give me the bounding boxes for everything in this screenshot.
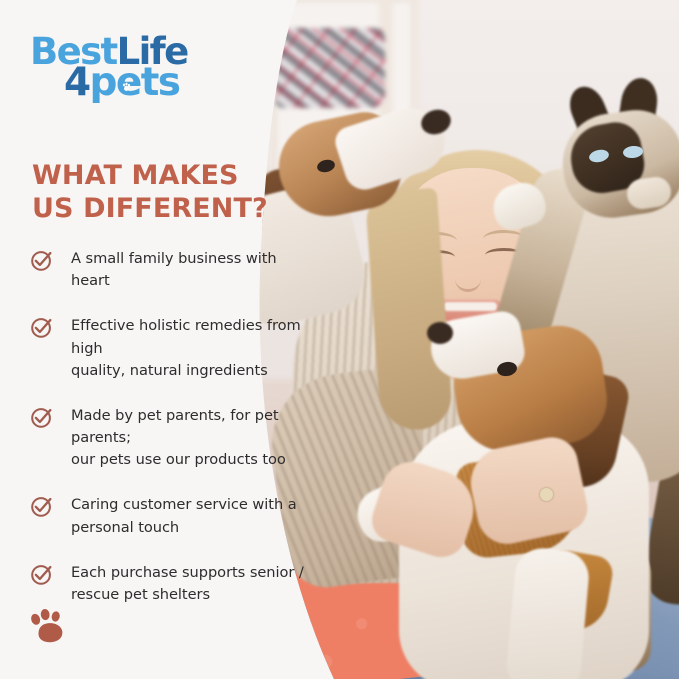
dog-front-nose bbox=[427, 322, 453, 344]
check-circle-icon bbox=[30, 495, 53, 518]
page-title: WHAT MAKES US DIFFERENT? bbox=[32, 160, 268, 226]
list-item: Each purchase supports senior / rescue p… bbox=[30, 562, 340, 606]
woman-teeth bbox=[443, 302, 497, 311]
dog-front-leg bbox=[505, 546, 591, 679]
check-circle-icon bbox=[30, 406, 53, 429]
logo-text-four: 4 bbox=[64, 60, 90, 105]
benefits-list: A small family business with heart Effec… bbox=[30, 248, 340, 629]
content-panel: BestLife 4pets WHAT MAKES US DIFFERENT? bbox=[0, 0, 340, 679]
benefit-text: Each purchase supports senior / rescue p… bbox=[71, 562, 304, 606]
benefit-text: A small family business with heart bbox=[71, 248, 316, 292]
logo-paw-print-icon bbox=[121, 82, 132, 92]
check-circle-icon bbox=[30, 316, 53, 339]
check-circle-icon bbox=[30, 249, 53, 272]
footer-paw-print-icon bbox=[28, 605, 70, 647]
list-item: Made by pet parents, for pet parents; ou… bbox=[30, 405, 340, 472]
list-item: Caring customer service with a personal … bbox=[30, 494, 340, 538]
logo-text-pets: pets bbox=[90, 60, 180, 105]
brand-logo[interactable]: BestLife 4pets bbox=[30, 36, 188, 99]
woman-nose bbox=[455, 262, 481, 292]
list-item: Effective holistic remedies from high qu… bbox=[30, 315, 340, 382]
woman-ring bbox=[540, 488, 553, 501]
benefit-text: Caring customer service with a personal … bbox=[71, 494, 297, 538]
benefit-text: Made by pet parents, for pet parents; ou… bbox=[71, 405, 316, 472]
promo-card: BestLife 4pets WHAT MAKES US DIFFERENT? bbox=[0, 0, 679, 679]
benefit-text: Effective holistic remedies from high qu… bbox=[71, 315, 316, 382]
list-item: A small family business with heart bbox=[30, 248, 340, 292]
check-circle-icon bbox=[30, 563, 53, 586]
